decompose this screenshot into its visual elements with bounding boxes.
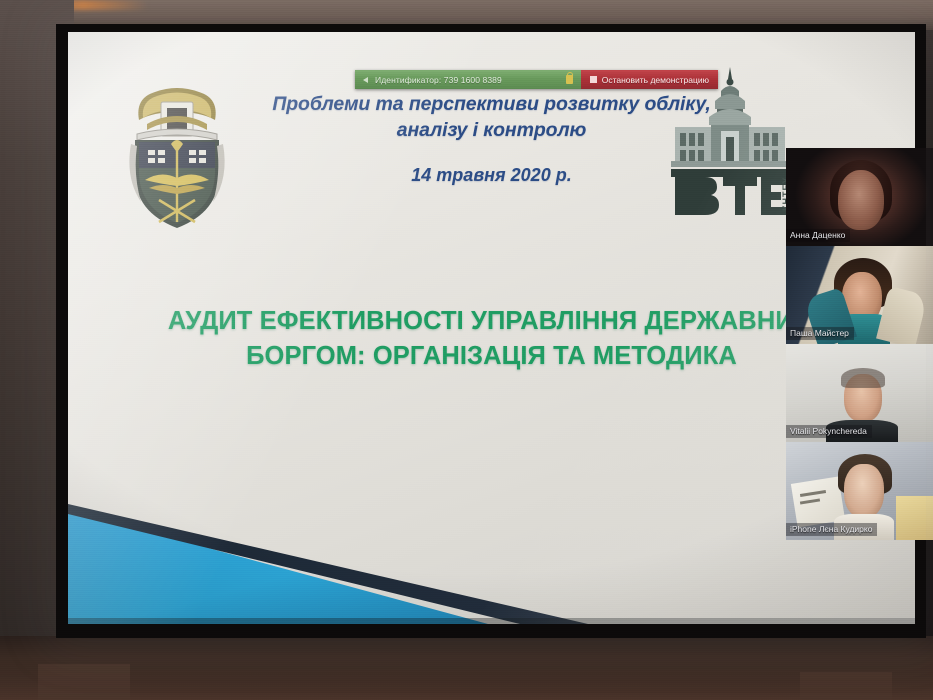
meeting-id-label: Идентификатор: 739 1600 8389: [375, 75, 502, 85]
video-shape: [838, 170, 884, 230]
desk-object-right: [800, 672, 892, 700]
participant-tile-3[interactable]: Vitalii Pokynchereda: [786, 344, 933, 442]
room-photo: КНТЕУ Проблеми та перспективи розвитку о…: [0, 0, 933, 700]
desk-surface: [0, 636, 933, 700]
chevron-right-icon[interactable]: [363, 77, 368, 83]
lock-icon: [566, 75, 573, 84]
participant-tile-2[interactable]: Паша Майстер: [786, 246, 933, 344]
video-shape: [844, 464, 884, 518]
participant-name-label: Vitalii Pokynchereda: [786, 425, 872, 438]
participant-name-label: Паша Майстер: [786, 327, 854, 340]
meeting-info-bar[interactable]: Идентификатор: 739 1600 8389: [355, 70, 581, 89]
presentation-main-title: АУДИТ ЕФЕКТИВНОСТІ УПРАВЛІННЯ ДЕРЖАВНИМ …: [128, 304, 855, 373]
desk-object-left: [38, 664, 130, 700]
conference-title: Проблеми та перспективи розвитку обліку,…: [68, 92, 915, 143]
participant-video-strip[interactable]: Анна Даценко Паша Майстер Vitalii Pokync…: [786, 148, 933, 542]
zoom-share-toolbar[interactable]: Идентификатор: 739 1600 8389 Остановить …: [355, 70, 718, 89]
stop-share-label: Остановить демонстрацию: [602, 75, 709, 85]
stop-square-icon: [590, 76, 597, 83]
participant-tile-4[interactable]: iPhone Лєна Кудирко: [786, 442, 933, 540]
participant-name-label: iPhone Лєна Кудирко: [786, 523, 877, 536]
participant-tile-1[interactable]: Анна Даценко: [786, 148, 933, 246]
video-shape: [896, 496, 933, 540]
participant-name-label: Анна Даценко: [786, 229, 850, 242]
stop-share-button[interactable]: Остановить демонстрацию: [581, 70, 718, 89]
video-shape: [841, 368, 885, 388]
